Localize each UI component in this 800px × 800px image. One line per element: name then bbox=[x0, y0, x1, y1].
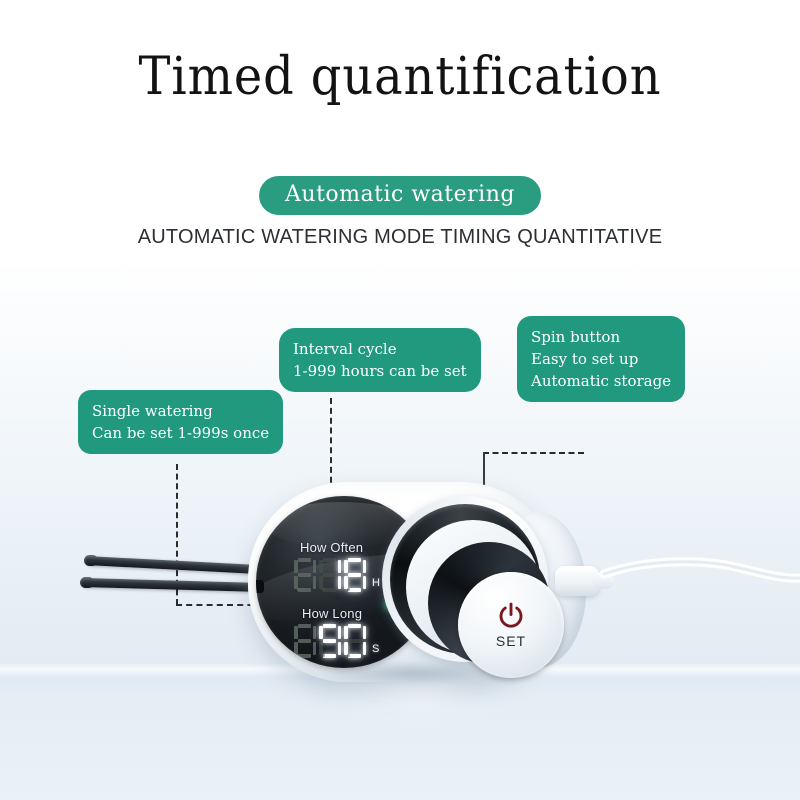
seven-segment-digit bbox=[294, 624, 316, 658]
leader-line-spin-button-horizontal bbox=[483, 452, 584, 454]
cable-port bbox=[256, 580, 264, 593]
callout-line: Automatic storage bbox=[531, 370, 671, 392]
background-upper bbox=[0, 0, 800, 300]
seven-segment-digit bbox=[319, 558, 341, 592]
set-button-inner-ring: SET bbox=[428, 542, 550, 664]
callout-spin-button: Spin button Easy to set up Automatic sto… bbox=[517, 316, 685, 402]
callout-line: Can be set 1-999s once bbox=[92, 422, 269, 444]
page-title: Timed quantification bbox=[32, 48, 768, 106]
callout-line: 1-999 hours can be set bbox=[293, 360, 467, 382]
how-long-label: How Long bbox=[302, 606, 362, 621]
page-subtitle: AUTOMATIC WATERING MODE TIMING QUANTITAT… bbox=[0, 224, 800, 250]
product-promo-image: Timed quantification Automatic watering … bbox=[0, 0, 800, 800]
callout-interval-cycle: Interval cycle 1-999 hours can be set bbox=[279, 328, 481, 392]
callout-line: Single watering bbox=[92, 400, 269, 422]
seven-segment-digit bbox=[344, 558, 366, 592]
device-timer: How Often H How Long bbox=[232, 474, 576, 690]
callout-single-watering: Single watering Can be set 1-999s once bbox=[78, 390, 283, 454]
how-often-display: H bbox=[294, 558, 380, 592]
how-often-label: How Often bbox=[300, 540, 363, 555]
callout-line: Easy to set up bbox=[531, 348, 671, 370]
set-button-mid-ring: SET bbox=[406, 520, 540, 654]
how-long-display: S bbox=[294, 624, 379, 658]
power-icon bbox=[496, 601, 526, 631]
how-long-unit: S bbox=[372, 644, 379, 655]
set-button-outer-ring: SET bbox=[390, 504, 540, 654]
mode-badge: Automatic watering bbox=[259, 176, 541, 215]
usb-cable bbox=[604, 556, 800, 592]
seven-segment-digit bbox=[294, 558, 316, 592]
callout-line: Spin button bbox=[531, 326, 671, 348]
set-button-assembly: SET bbox=[382, 496, 548, 662]
callout-line: Interval cycle bbox=[293, 338, 467, 360]
how-often-unit: H bbox=[372, 578, 380, 589]
seven-segment-digit bbox=[319, 624, 341, 658]
set-button-label: SET bbox=[496, 634, 526, 649]
set-button[interactable]: SET bbox=[458, 572, 564, 678]
seven-segment-digit bbox=[344, 624, 366, 658]
